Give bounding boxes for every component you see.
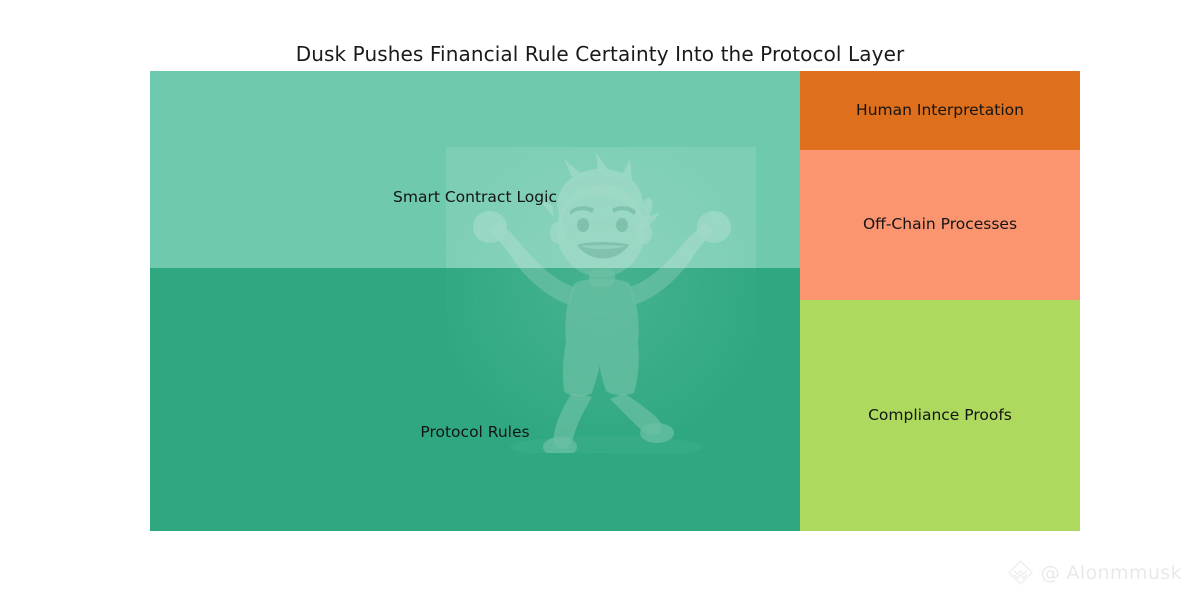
page-title: Dusk Pushes Financial Rule Certainty Int… <box>0 42 1200 66</box>
treemap-cell-label: Smart Contract Logic <box>393 189 557 206</box>
treemap-cell-human-interpretation[interactable]: Human Interpretation <box>800 71 1080 150</box>
treemap-cell-off-chain-processes[interactable]: Off-Chain Processes <box>800 150 1080 300</box>
treemap-cell-protocol-rules[interactable]: Protocol Rules <box>150 268 800 531</box>
watermark-handle: @ Alonmmusk <box>1041 562 1182 584</box>
treemap-cell-label: Off-Chain Processes <box>863 216 1017 233</box>
treemap-chart: Smart Contract Logic Protocol Rules Huma… <box>150 71 1080 531</box>
watermark: @ Alonmmusk <box>1007 559 1182 586</box>
treemap-cell-smart-contract-logic[interactable]: Smart Contract Logic <box>150 71 800 268</box>
treemap-cell-label: Human Interpretation <box>856 102 1024 119</box>
treemap-cell-label: Protocol Rules <box>420 424 529 441</box>
treemap-cell-compliance-proofs[interactable]: Compliance Proofs <box>800 300 1080 531</box>
treemap-cell-label: Compliance Proofs <box>868 407 1012 424</box>
diamond-logo-icon <box>1007 559 1034 586</box>
figure-canvas: Dusk Pushes Financial Rule Certainty Int… <box>0 0 1200 600</box>
